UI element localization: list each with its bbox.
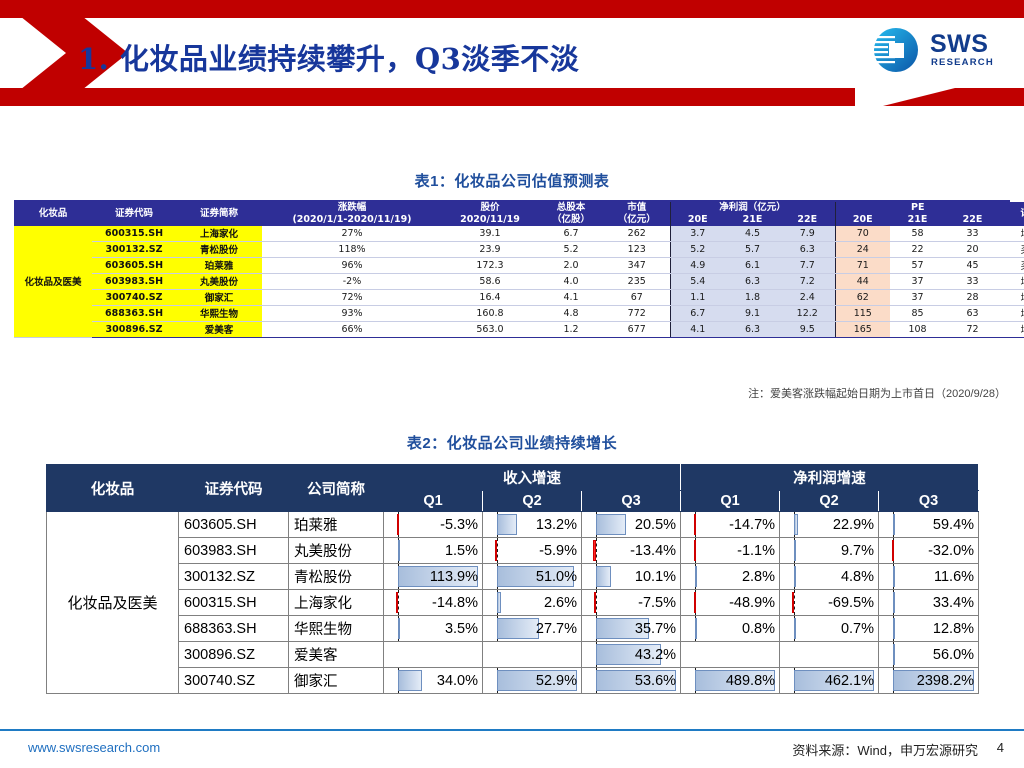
sws-research-logo: SWS RESEARCH (870, 24, 1002, 76)
cell-value-text: 34.0% (388, 673, 478, 689)
cell-shares: 5.2 (538, 241, 604, 257)
cell-np-q1: 0.8% (681, 616, 780, 642)
cell-np-22e: 2.4 (780, 289, 835, 305)
cell-price: 16.4 (442, 289, 538, 305)
th2-code: 证券代码 (179, 465, 289, 512)
cell-np-q1: 489.8% (681, 668, 780, 694)
cell-value-text: 20.5% (586, 517, 676, 533)
th2-rev-q1: Q1 (384, 491, 483, 512)
cell-short-name: 上海家化 (176, 226, 262, 242)
cell-price: 39.1 (442, 226, 538, 242)
cell-code: 603983.SH (92, 273, 176, 289)
cell-np-21e: 5.7 (725, 241, 780, 257)
cell-rev-q1: -14.8% (384, 590, 483, 616)
cell-np-21e: 1.8 (725, 289, 780, 305)
cell-short-name: 爱美客 (176, 321, 262, 337)
cell-value-text: 53.6% (586, 673, 676, 689)
cell-np-22e: 12.2 (780, 305, 835, 321)
cell-value-text: 0.8% (685, 621, 775, 637)
cell-value-text: 51.0% (487, 569, 577, 585)
cell-code: 600315.SH (179, 590, 289, 616)
cell-rating: 增持 (1000, 305, 1024, 321)
cell-rating: 增持 (1000, 289, 1024, 305)
cell-np-q2: 462.1% (780, 668, 879, 694)
cell-rev-q2: -5.9% (483, 538, 582, 564)
table-row: 603983.SH丸美股份-2%58.64.02355.46.37.244373… (14, 273, 1024, 289)
cell-mcap: 347 (604, 257, 670, 273)
cell-price: 58.6 (442, 273, 538, 289)
th-mcap: 市值（亿元） (604, 202, 670, 226)
cell-mcap: 67 (604, 289, 670, 305)
th2-np-q2: Q2 (780, 491, 879, 512)
table1-container: 化妆品 证券代码 证券简称 涨跌幅 股价 总股本（亿股） 市值（亿元） 净利润（… (14, 202, 1010, 338)
cell-shares: 4.1 (538, 289, 604, 305)
valuation-table: 化妆品 证券代码 证券简称 涨跌幅 股价 总股本（亿股） 市值（亿元） 净利润（… (14, 202, 1024, 338)
cell-company-name: 丸美股份 (289, 538, 384, 564)
table1-note: 注：爱美客涨跌幅起始日期为上市首日（2020/9/28） (748, 385, 1006, 401)
table-row: 300132.SZ青松股份113.9%51.0%10.1%2.8%4.8%11.… (47, 564, 979, 590)
cell-rev-q3: 10.1% (582, 564, 681, 590)
cell-rating: 增持 (1000, 321, 1024, 337)
cell-value-text: 35.7% (586, 621, 676, 637)
th-change-sub: (2020/1/1-2020/11/19) (262, 214, 442, 226)
cell-rating: 增持 (1000, 273, 1024, 289)
cell-short-name: 华熙生物 (176, 305, 262, 321)
cell-pe-21e: 37 (890, 289, 945, 305)
th-category: 化妆品 (14, 202, 92, 226)
table2-container: 化妆品 证券代码 公司简称 收入增速 净利润增速 Q1 Q2 Q3 Q1 Q2 … (46, 464, 978, 694)
cell-rev-q1: 1.5% (384, 538, 483, 564)
table-row: 600315.SH上海家化-14.8%2.6%-7.5%-48.9%-69.5%… (47, 590, 979, 616)
cell-pe-20e: 115 (835, 305, 890, 321)
th-pe-21e: 21E (890, 214, 945, 226)
cell-np-q2: 4.8% (780, 564, 879, 590)
cell-change: 93% (262, 305, 442, 321)
cell-value-text: 11.6% (883, 569, 974, 585)
cell-pe-21e: 57 (890, 257, 945, 273)
th-profit-group: 净利润（亿元） (670, 202, 835, 214)
cell-shares: 2.0 (538, 257, 604, 273)
cell-code: 603605.SH (92, 257, 176, 273)
cell-value-text: 9.7% (784, 543, 874, 559)
cell-np-21e: 4.5 (725, 226, 780, 242)
cell-rating: 买入 (1000, 257, 1024, 273)
cell-value-text: 52.9% (487, 673, 577, 689)
th-shares: 总股本（亿股） (538, 202, 604, 226)
th2-company: 公司简称 (289, 465, 384, 512)
cell-pe-22e: 45 (945, 257, 1000, 273)
cell-code: 300132.SZ (179, 564, 289, 590)
growth-table: 化妆品 证券代码 公司简称 收入增速 净利润增速 Q1 Q2 Q3 Q1 Q2 … (46, 464, 979, 694)
table-row: 300896.SZ爱美客66%563.01.26774.16.39.516510… (14, 321, 1024, 337)
cell-value-text: 4.8% (784, 569, 874, 585)
cell-pe-22e: 28 (945, 289, 1000, 305)
cell-value-text: 10.1% (586, 569, 676, 585)
cell-change: 72% (262, 289, 442, 305)
cell-np-22e: 6.3 (780, 241, 835, 257)
cell-np-q3: 11.6% (879, 564, 979, 590)
cell-code: 688363.SH (92, 305, 176, 321)
cell-np-22e: 7.7 (780, 257, 835, 273)
cell-value-text: 1.5% (388, 543, 478, 559)
cell-np-21e: 6.1 (725, 257, 780, 273)
cell-np-20e: 5.2 (670, 241, 725, 257)
logo-svg: SWS RESEARCH (870, 24, 1002, 76)
cell-rev-q1: 113.9% (384, 564, 483, 590)
cell-code: 300740.SZ (92, 289, 176, 305)
cell-np-q3: 33.4% (879, 590, 979, 616)
table1-title: 表1：化妆品公司估值预测表 (0, 170, 1024, 191)
th2-category: 化妆品 (47, 465, 179, 512)
cell-shares: 4.8 (538, 305, 604, 321)
page-title: 1. 化妆品业绩持续攀升，Q3淡季不淡 (78, 36, 579, 78)
table-row: 688363.SH华熙生物3.5%27.7%35.7%0.8%0.7%12.8% (47, 616, 979, 642)
cell-value-text: 2.6% (487, 595, 577, 611)
cell-rev-q3: 43.2% (582, 642, 681, 668)
cell-rev-q2: 27.7% (483, 616, 582, 642)
cell-rev-q2: 51.0% (483, 564, 582, 590)
footer-rule (0, 729, 1024, 731)
cell-value-text: -69.5% (784, 595, 874, 611)
cell-np-21e: 9.1 (725, 305, 780, 321)
cell-value-text: -13.4% (586, 543, 676, 559)
cell-value-text: 2.8% (685, 569, 775, 585)
cell-np-20e: 1.1 (670, 289, 725, 305)
cell-value-text: 27.7% (487, 621, 577, 637)
cell-pe-22e: 72 (945, 321, 1000, 337)
cell-change: 27% (262, 226, 442, 242)
th-price-sub: 2020/11/19 (442, 214, 538, 226)
cell-mcap: 262 (604, 226, 670, 242)
cell-mcap: 235 (604, 273, 670, 289)
cell-pe-22e: 33 (945, 273, 1000, 289)
table-row: 300740.SZ御家汇34.0%52.9%53.6%489.8%462.1%2… (47, 668, 979, 694)
cell-np-q2: 22.9% (780, 512, 879, 538)
cell-rev-q3: 20.5% (582, 512, 681, 538)
table2-title: 表2：化妆品公司业绩持续增长 (0, 432, 1024, 453)
cell-short-name: 御家汇 (176, 289, 262, 305)
cell-pe-21e: 85 (890, 305, 945, 321)
cell-value-text: 462.1% (784, 673, 874, 689)
cell-shares: 6.7 (538, 226, 604, 242)
cell-pe-20e: 70 (835, 226, 890, 242)
th-change-top: 涨跌幅 (262, 202, 442, 214)
footer-source: 资料来源：Wind，申万宏源研究 (792, 740, 978, 759)
cell-code: 300896.SZ (179, 642, 289, 668)
th-pe-20e: 20E (835, 214, 890, 226)
th2-rev-q2: Q2 (483, 491, 582, 512)
cell-rev-q2: 52.9% (483, 668, 582, 694)
cell-shares: 4.0 (538, 273, 604, 289)
cell-company-name: 上海家化 (289, 590, 384, 616)
cell-value-text: -14.8% (388, 595, 478, 611)
cell-rev-q1 (384, 642, 483, 668)
th-short-name: 证券简称 (176, 202, 262, 226)
th-pe-22e: 22E (945, 214, 1000, 226)
cell-price: 172.3 (442, 257, 538, 273)
cell-rev-q1: 3.5% (384, 616, 483, 642)
cell-mcap: 772 (604, 305, 670, 321)
cell-price: 23.9 (442, 241, 538, 257)
cell-code: 300896.SZ (92, 321, 176, 337)
cell-pe-21e: 37 (890, 273, 945, 289)
th-code: 证券代码 (92, 202, 176, 226)
cell-np-20e: 4.9 (670, 257, 725, 273)
cell-np-q2 (780, 642, 879, 668)
cell-code: 603983.SH (179, 538, 289, 564)
cell-value-text: -32.0% (883, 543, 974, 559)
table2-header-row-1: 化妆品 证券代码 公司简称 收入增速 净利润增速 (47, 465, 979, 491)
cell-rev-q2: 2.6% (483, 590, 582, 616)
cell-pe-22e: 20 (945, 241, 1000, 257)
table-row: 603605.SH珀莱雅96%172.32.03474.96.17.771574… (14, 257, 1024, 273)
cell-rev-q3: 53.6% (582, 668, 681, 694)
footer-url[interactable]: www.swsresearch.com (28, 740, 160, 755)
cell-code: 600315.SH (92, 226, 176, 242)
cell-mcap: 123 (604, 241, 670, 257)
cell-value-text: 56.0% (883, 647, 974, 663)
table-row: 603983.SH丸美股份1.5%-5.9%-13.4%-1.1%9.7%-32… (47, 538, 979, 564)
cell-code: 300132.SZ (92, 241, 176, 257)
cell-value-text: 3.5% (388, 621, 478, 637)
cell-value-text: 0.7% (784, 621, 874, 637)
cell-np-22e: 7.9 (780, 226, 835, 242)
cell-code: 603605.SH (179, 512, 289, 538)
cell-value-text: 113.9% (388, 569, 478, 585)
cell-value-text: -7.5% (586, 595, 676, 611)
table2-body: 化妆品及医美603605.SH珀莱雅-5.3%13.2%20.5%-14.7%2… (47, 512, 979, 694)
cell-value-text: 489.8% (685, 673, 775, 689)
cell-value-text: -1.1% (685, 543, 775, 559)
cell-rev-q1: -5.3% (384, 512, 483, 538)
cell-np-21e: 6.3 (725, 273, 780, 289)
th-price-top: 股价 (442, 202, 538, 214)
cell-company-name: 御家汇 (289, 668, 384, 694)
cell-np-q3: 59.4% (879, 512, 979, 538)
cell-pe-21e: 58 (890, 226, 945, 242)
cell-value-text: -5.9% (487, 543, 577, 559)
cell-np-q1: -48.9% (681, 590, 780, 616)
th-rating: 评级 (1000, 202, 1024, 226)
cell-np-q1: -14.7% (681, 512, 780, 538)
cell-np-q3: -32.0% (879, 538, 979, 564)
cell-np-q3: 56.0% (879, 642, 979, 668)
cell-pe-21e: 108 (890, 321, 945, 337)
cell-np-q2: 9.7% (780, 538, 879, 564)
table1-body: 化妆品及医美600315.SH上海家化27%39.16.72623.74.57.… (14, 226, 1024, 338)
table2-category-cell: 化妆品及医美 (47, 512, 179, 694)
cell-code: 688363.SH (179, 616, 289, 642)
cell-price: 563.0 (442, 321, 538, 337)
cell-company-name: 爱美客 (289, 642, 384, 668)
cell-rev-q3: -13.4% (582, 538, 681, 564)
th2-np-q1: Q1 (681, 491, 780, 512)
table-row: 688363.SH华熙生物93%160.84.87726.79.112.2115… (14, 305, 1024, 321)
header-top-band (0, 0, 1024, 18)
table-row: 300896.SZ爱美客43.2%56.0% (47, 642, 979, 668)
table-row: 化妆品及医美600315.SH上海家化27%39.16.72623.74.57.… (14, 226, 1024, 242)
cell-np-20e: 4.1 (670, 321, 725, 337)
cell-value-text: -5.3% (388, 517, 478, 533)
cell-pe-20e: 24 (835, 241, 890, 257)
cell-np-q2: 0.7% (780, 616, 879, 642)
cell-np-q2: -69.5% (780, 590, 879, 616)
cell-company-name: 珀莱雅 (289, 512, 384, 538)
cell-shares: 1.2 (538, 321, 604, 337)
cell-company-name: 华熙生物 (289, 616, 384, 642)
cell-rev-q1: 34.0% (384, 668, 483, 694)
cell-pe-20e: 44 (835, 273, 890, 289)
cell-np-q3: 2398.2% (879, 668, 979, 694)
cell-change: 118% (262, 241, 442, 257)
cell-np-22e: 7.2 (780, 273, 835, 289)
cell-value-text: 13.2% (487, 517, 577, 533)
th2-revenue-group: 收入增速 (384, 465, 681, 491)
cell-np-20e: 6.7 (670, 305, 725, 321)
cell-rating: 增持 (1000, 226, 1024, 242)
cell-mcap: 677 (604, 321, 670, 337)
th-np-20e: 20E (670, 214, 725, 226)
cell-np-q3: 12.8% (879, 616, 979, 642)
th2-profit-group: 净利润增速 (681, 465, 979, 491)
cell-np-21e: 6.3 (725, 321, 780, 337)
table1-category-cell: 化妆品及医美 (14, 226, 92, 338)
cell-pe-20e: 71 (835, 257, 890, 273)
cell-np-22e: 9.5 (780, 321, 835, 337)
cell-pe-22e: 33 (945, 226, 1000, 242)
cell-pe-22e: 63 (945, 305, 1000, 321)
cell-value-text: 12.8% (883, 621, 974, 637)
cell-np-q1: 2.8% (681, 564, 780, 590)
cell-value-text: 33.4% (883, 595, 974, 611)
cell-value-text: -14.7% (685, 517, 775, 533)
cell-rev-q3: 35.7% (582, 616, 681, 642)
cell-change: -2% (262, 273, 442, 289)
cell-pe-20e: 62 (835, 289, 890, 305)
table-row: 300132.SZ青松股份118%23.95.21235.25.76.32422… (14, 241, 1024, 257)
svg-text:RESEARCH: RESEARCH (931, 57, 994, 68)
cell-value-text: 59.4% (883, 517, 974, 533)
table-row: 300740.SZ御家汇72%16.44.1671.11.82.4623728增… (14, 289, 1024, 305)
th-np-22e: 22E (780, 214, 835, 226)
cell-np-q1: -1.1% (681, 538, 780, 564)
table-row: 化妆品及医美603605.SH珀莱雅-5.3%13.2%20.5%-14.7%2… (47, 512, 979, 538)
cell-np-20e: 3.7 (670, 226, 725, 242)
th2-rev-q3: Q3 (582, 491, 681, 512)
cell-price: 160.8 (442, 305, 538, 321)
cell-value-text: 2398.2% (883, 673, 974, 689)
table1-header-row-1: 化妆品 证券代码 证券简称 涨跌幅 股价 总股本（亿股） 市值（亿元） 净利润（… (14, 202, 1024, 214)
svg-text:SWS: SWS (930, 30, 988, 58)
cell-code: 300740.SZ (179, 668, 289, 694)
cell-value-text: 43.2% (586, 647, 676, 663)
cell-np-20e: 5.4 (670, 273, 725, 289)
th-pe-group: PE (835, 202, 1000, 214)
cell-rev-q2 (483, 642, 582, 668)
cell-np-q1 (681, 642, 780, 668)
cell-change: 66% (262, 321, 442, 337)
cell-pe-21e: 22 (890, 241, 945, 257)
cell-value-text: -48.9% (685, 595, 775, 611)
cell-pe-20e: 165 (835, 321, 890, 337)
cell-company-name: 青松股份 (289, 564, 384, 590)
cell-short-name: 丸美股份 (176, 273, 262, 289)
cell-rating: 买入 (1000, 241, 1024, 257)
cell-short-name: 青松股份 (176, 241, 262, 257)
cell-rev-q2: 13.2% (483, 512, 582, 538)
cell-short-name: 珀莱雅 (176, 257, 262, 273)
th2-np-q3: Q3 (879, 491, 979, 512)
cell-rev-q3: -7.5% (582, 590, 681, 616)
th-np-21e: 21E (725, 214, 780, 226)
cell-change: 96% (262, 257, 442, 273)
page-number: 4 (997, 740, 1004, 755)
cell-value-text: 22.9% (784, 517, 874, 533)
